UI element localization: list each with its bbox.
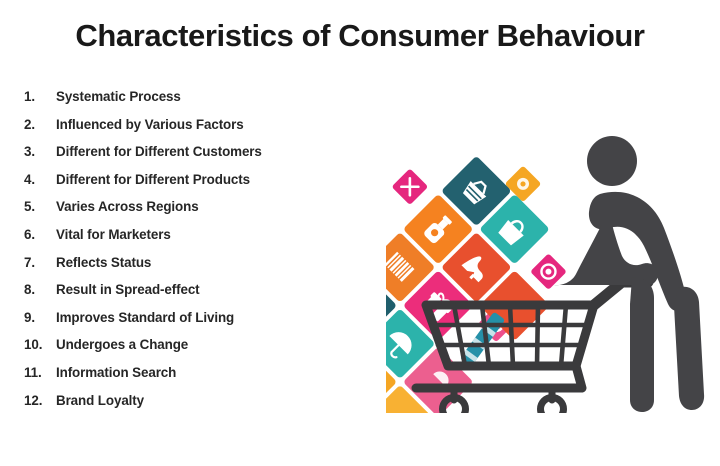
page-title: Characteristics of Consumer Behaviour — [0, 18, 720, 54]
cart-wheels — [443, 398, 564, 414]
list-item-label: Systematic Process — [56, 89, 354, 104]
list-item-label: Undergoes a Change — [56, 337, 354, 352]
characteristics-list: 1. Systematic Process 2. Influenced by V… — [24, 89, 354, 420]
shopper-head — [587, 136, 637, 186]
list-item: 1. Systematic Process — [24, 89, 354, 117]
shopper-illustration — [386, 128, 706, 413]
list-item-label: Result in Spread-effect — [56, 282, 354, 297]
list-item: 7. Reflects Status — [24, 255, 354, 283]
list-item: 8. Result in Spread-effect — [24, 282, 354, 310]
list-item-number: 9. — [24, 310, 56, 325]
list-item-number: 7. — [24, 255, 56, 270]
list-item-label: Varies Across Regions — [56, 199, 354, 214]
list-item-number: 2. — [24, 117, 56, 132]
list-item-number: 10. — [24, 337, 56, 352]
list-item-number: 6. — [24, 227, 56, 242]
list-item-label: Vital for Marketers — [56, 227, 354, 242]
list-item: 5. Varies Across Regions — [24, 199, 354, 227]
list-item-label: Different for Different Customers — [56, 144, 354, 159]
list-item-label: Brand Loyalty — [56, 393, 354, 408]
list-item-label: Different for Different Products — [56, 172, 354, 187]
list-item-label: Influenced by Various Factors — [56, 117, 354, 132]
list-item: 2. Influenced by Various Factors — [24, 117, 354, 145]
list-item: 3. Different for Different Customers — [24, 144, 354, 172]
shopper-rear-leg — [630, 278, 654, 412]
list-item: 10. Undergoes a Change — [24, 337, 354, 365]
list-item-number: 4. — [24, 172, 56, 187]
list-item-number: 12. — [24, 393, 56, 408]
list-item: 11. Information Search — [24, 365, 354, 393]
list-item-label: Reflects Status — [56, 255, 354, 270]
list-item-number: 8. — [24, 282, 56, 297]
list-item: 6. Vital for Marketers — [24, 227, 354, 255]
list-item-number: 1. — [24, 89, 56, 104]
slide-canvas: Characteristics of Consumer Behaviour 1.… — [0, 0, 720, 466]
list-item: 9. Improves Standard of Living — [24, 310, 354, 338]
list-item-number: 11. — [24, 365, 56, 380]
shopper-front-leg — [674, 287, 704, 410]
list-item: 4. Different for Different Products — [24, 172, 354, 200]
list-item-number: 3. — [24, 144, 56, 159]
list-item-label: Improves Standard of Living — [56, 310, 354, 325]
list-item: 12. Brand Loyalty — [24, 393, 354, 421]
list-item-number: 5. — [24, 199, 56, 214]
list-item-label: Information Search — [56, 365, 354, 380]
